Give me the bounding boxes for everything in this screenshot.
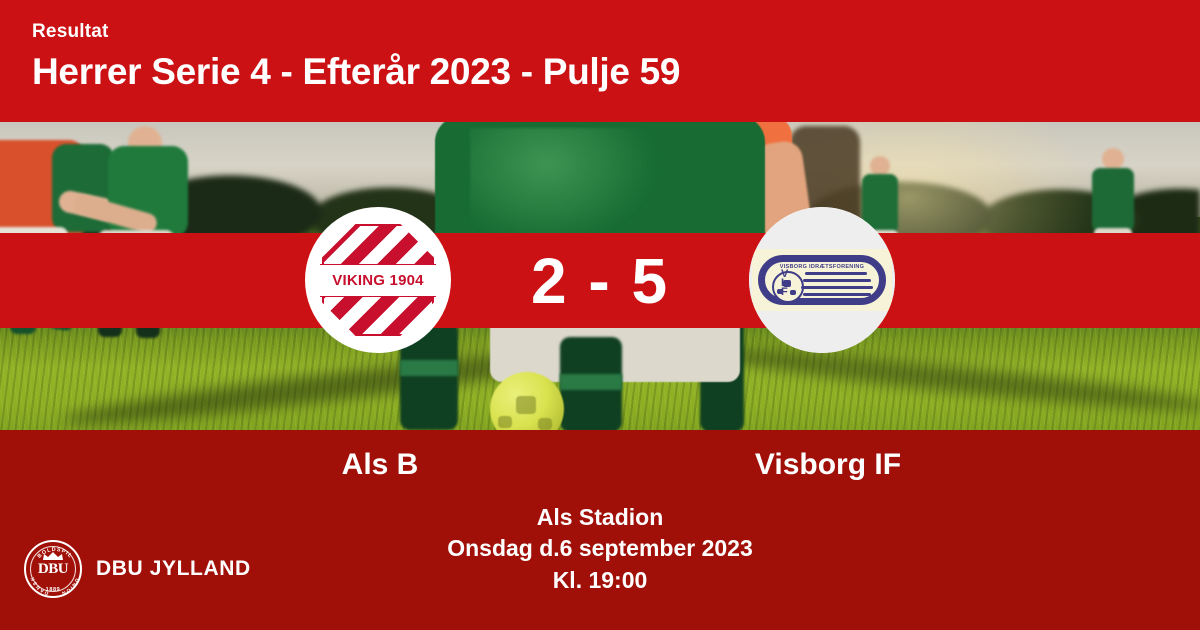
visborg-if-crest-icon: VISBORG IDRÆTSFORENING VIF xyxy=(749,207,895,353)
result-poster: Resultat Herrer Serie 4 - Efterår 2023 -… xyxy=(0,0,1200,630)
photo-sock-band xyxy=(400,360,458,376)
poster-header: Resultat Herrer Serie 4 - Efterår 2023 -… xyxy=(0,0,1200,122)
away-team-crest: VISBORG IDRÆTSFORENING VIF xyxy=(749,207,895,353)
dbu-crown-icon xyxy=(42,552,64,560)
photo-sock-band xyxy=(560,374,622,390)
dbu-crest-icon: BOLDSPIL UNION DANSK DBU 1889 xyxy=(24,540,82,598)
crest-oval-track: VISBORG IDRÆTSFORENING VIF xyxy=(758,255,886,305)
crest-name-bar: VIKING 1904 xyxy=(320,264,436,296)
photo-player-head xyxy=(1102,148,1124,170)
venue-name: Als Stadion xyxy=(300,502,900,532)
dbu-logo: BOLDSPIL UNION DANSK DBU 1889 DBU JYLLAN… xyxy=(24,540,251,598)
home-team-name: Als B xyxy=(230,448,530,482)
match-details: Als Stadion Onsdag d.6 september 2023 Kl… xyxy=(300,502,900,596)
viking-1904-crest-icon: VIKING 1904 xyxy=(322,224,434,336)
photo-player-head xyxy=(870,156,890,176)
away-team-name: Visborg IF xyxy=(678,448,978,482)
home-crest-label: VIKING 1904 xyxy=(332,272,423,289)
match-date: Onsdag d.6 september 2023 xyxy=(300,532,900,564)
dbu-monogram: DBU xyxy=(26,561,80,578)
photo-player-green-far-right xyxy=(1092,168,1134,232)
home-team-crest: VIKING 1904 xyxy=(305,207,451,353)
header-kicker: Resultat xyxy=(32,22,1200,41)
photo-jersey-highlight xyxy=(470,128,660,248)
crest-plate: VISBORG IDRÆTSFORENING VIF xyxy=(752,249,892,311)
dbu-org-name: DBU JYLLAND xyxy=(96,557,251,581)
crest-initials: VIF xyxy=(781,270,788,297)
dbu-founding-year: 1889 xyxy=(26,587,80,593)
match-time: Kl. 19:00 xyxy=(300,564,900,596)
match-score: 2 - 5 xyxy=(0,233,1200,328)
page-title: Herrer Serie 4 - Efterår 2023 - Pulje 59 xyxy=(32,53,1200,90)
